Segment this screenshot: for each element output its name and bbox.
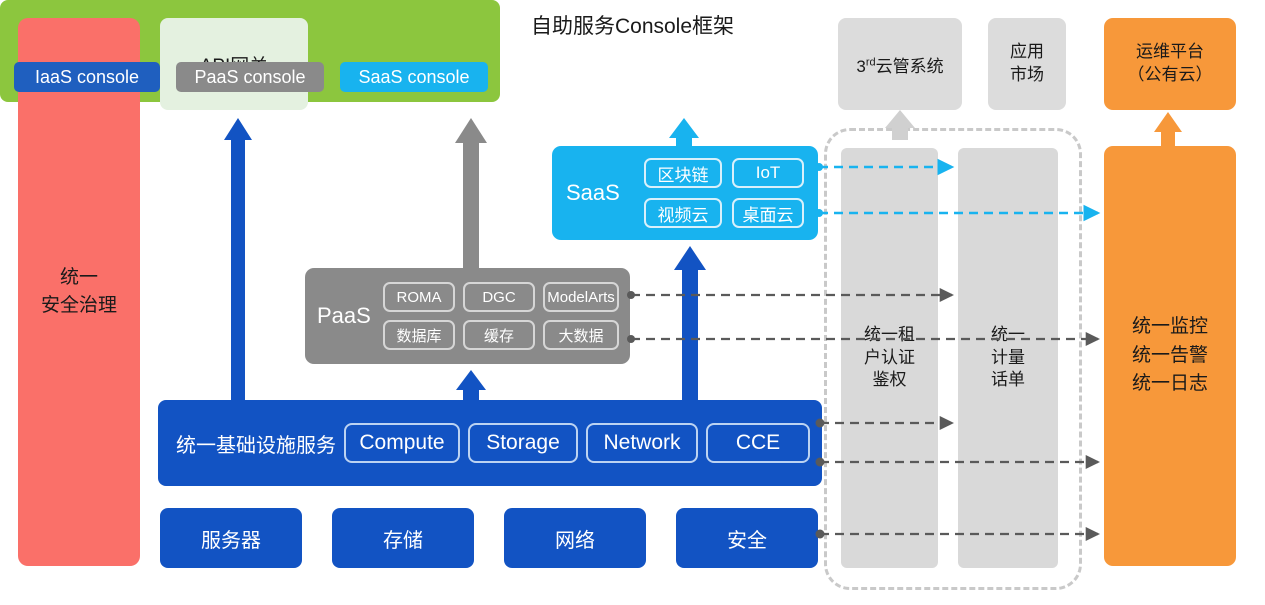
unified-tenant-auth-column[interactable]: 统一租 户认证 鉴权: [841, 148, 938, 568]
paas-layer[interactable]: PaaS ROMA DGC ModelArts 数据库 缓存 大数据: [305, 268, 630, 364]
paas-console-chip[interactable]: PaaS console: [176, 62, 324, 92]
auth-line-2: 户认证: [864, 347, 915, 370]
infra-chip-network[interactable]: Network: [586, 423, 698, 463]
saas-chip-desktop-cloud[interactable]: 桌面云: [732, 198, 804, 228]
app-market-line-2: 市场: [1010, 64, 1044, 87]
paas-console-label: PaaS console: [194, 67, 305, 88]
auth-line-1: 统一租: [864, 324, 915, 347]
saas-layer[interactable]: SaaS 区块链 IoT 视频云 桌面云: [552, 146, 818, 240]
paas-label: PaaS: [317, 268, 371, 364]
ops-platform-line-2: （公有云）: [1128, 64, 1213, 87]
meter-line-1: 统一: [991, 324, 1025, 347]
security-line-2: 安全治理: [41, 292, 117, 320]
saas-chip-iot[interactable]: IoT: [732, 158, 804, 188]
arrow-saas-to-console: [669, 118, 699, 148]
meter-line-2: 计量: [991, 347, 1025, 370]
unified-ops-bar[interactable]: 统一监控 统一告警 统一日志: [1104, 146, 1236, 566]
saas-label: SaaS: [566, 146, 620, 240]
arrow-infra-to-api-gateway: [224, 118, 252, 400]
third-cloud-sup: rd: [866, 56, 876, 68]
infra-chip-cce[interactable]: CCE: [706, 423, 810, 463]
ops-platform-line-1: 运维平台: [1128, 41, 1213, 64]
paas-chip-roma[interactable]: ROMA: [383, 282, 455, 312]
arrow-paas-to-console: [455, 118, 487, 268]
bottom-chip-storage[interactable]: 存储: [332, 508, 474, 568]
third-cloud-text: 云管系统: [876, 57, 944, 76]
infra-chip-storage[interactable]: Storage: [468, 423, 578, 463]
saas-chip-blockchain[interactable]: 区块链: [644, 158, 722, 188]
iaas-console-label: IaaS console: [35, 67, 139, 88]
bottom-chip-server[interactable]: 服务器: [160, 508, 302, 568]
infra-chip-compute[interactable]: Compute: [344, 423, 460, 463]
unified-infrastructure-service-bar[interactable]: 统一基础设施服务 Compute Storage Network CCE: [158, 400, 822, 486]
unified-metering-billing-column[interactable]: 统一 计量 话单: [958, 148, 1058, 568]
third-party-cloud-mgmt-box[interactable]: 3rd云管系统: [838, 18, 962, 110]
ops-bar-line-3: 统一日志: [1132, 370, 1208, 399]
third-cloud-label: 3rd云管系统: [856, 52, 943, 77]
saas-console-chip[interactable]: SaaS console: [340, 62, 488, 92]
bottom-chip-network[interactable]: 网络: [504, 508, 646, 568]
saas-console-label: SaaS console: [358, 67, 469, 88]
app-market-line-1: 应用: [1010, 41, 1044, 64]
ops-bar-line-1: 统一监控: [1132, 313, 1208, 342]
saas-chip-video-cloud[interactable]: 视频云: [644, 198, 722, 228]
unified-security-governance-bar[interactable]: 统一 安全治理: [18, 18, 140, 566]
arrow-infra-to-saas: [674, 246, 706, 400]
bottom-chip-security[interactable]: 安全: [676, 508, 818, 568]
arrow-ops-bar-to-ops-platform: [1154, 112, 1182, 146]
console-frame-title: 自助服务Console框架: [0, 10, 1265, 40]
ops-bar-line-2: 统一告警: [1132, 342, 1208, 371]
third-cloud-prefix: 3: [856, 57, 865, 76]
paas-chip-dgc[interactable]: DGC: [463, 282, 535, 312]
paas-chip-bigdata[interactable]: 大数据: [543, 320, 619, 350]
paas-chip-database[interactable]: 数据库: [383, 320, 455, 350]
arrow-infra-to-paas: [456, 370, 486, 400]
auth-line-3: 鉴权: [864, 369, 915, 392]
iaas-console-chip[interactable]: IaaS console: [14, 62, 160, 92]
paas-chip-cache[interactable]: 缓存: [463, 320, 535, 350]
ops-platform-box[interactable]: 运维平台 （公有云）: [1104, 18, 1236, 110]
security-line-1: 统一: [41, 264, 117, 292]
infra-label: 统一基础设施服务: [176, 400, 336, 486]
app-market-box[interactable]: 应用 市场: [988, 18, 1066, 110]
meter-line-3: 话单: [991, 369, 1025, 392]
paas-chip-modelarts[interactable]: ModelArts: [543, 282, 619, 312]
architecture-diagram: 统一 安全治理 API网关 自助服务Console框架 IaaS console…: [0, 0, 1265, 605]
